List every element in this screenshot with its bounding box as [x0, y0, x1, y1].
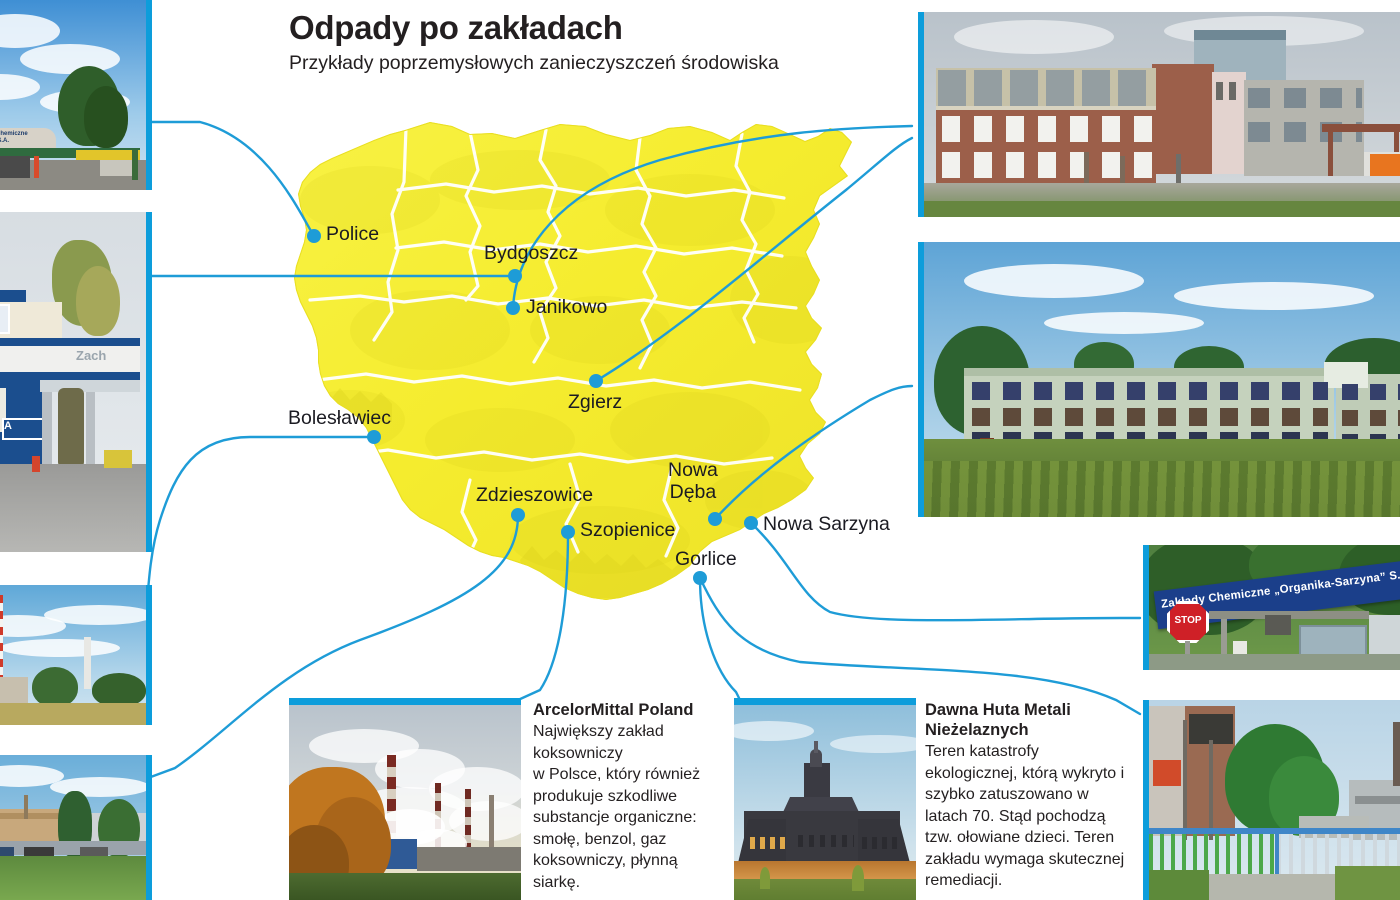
- city-label-bolesławiec: Bolesławiec: [288, 408, 391, 430]
- photo-sign-bydgoszcz: Zach: [76, 348, 106, 363]
- photo-bydgoszcz-building: Zach A: [0, 212, 152, 552]
- photo-police-plant: Zakłady Chemiczne „Police” S.A.: [0, 0, 152, 190]
- photo-gorlice-gate: [1143, 700, 1400, 900]
- photo-zdzieszowice-works: [0, 755, 152, 900]
- page-subtitle: Przykłady poprzemysłowych zanieczyszczeń…: [289, 51, 849, 77]
- city-label-bydgoszcz: Bydgoszcz: [484, 243, 578, 265]
- city-label-gorlice: Gorlice: [675, 549, 737, 571]
- title-block: Odpady po zakładach Przykłady poprzemysł…: [289, 10, 849, 77]
- infographic-root: PoliceBydgoszczJanikowoZgierzBolesławiec…: [0, 0, 1400, 900]
- page-title: Odpady po zakładach: [289, 10, 849, 47]
- photo-sign-police: Zakłady Chemiczne „Police” S.A.: [0, 131, 42, 145]
- city-label-zdzieszowice: Zdzieszowice: [476, 485, 593, 507]
- photo-huta-metali: [734, 698, 916, 900]
- caption-body: Największy zakład koksowniczy w Polsce, …: [533, 721, 729, 893]
- city-label-janikowo: Janikowo: [526, 297, 607, 319]
- photo-zgierz-longblock: [918, 242, 1400, 517]
- city-label-zgierz: Zgierz: [568, 392, 622, 414]
- photo-boleslawiec-stack: [0, 585, 152, 725]
- caption-body: Teren katastrofy ekologicznej, którą wyk…: [925, 741, 1130, 892]
- photo-janikowo-factory: [918, 12, 1400, 217]
- caption-arcelormittal: ArcelorMittal Poland Największy zakład k…: [533, 700, 729, 893]
- city-label-nowa-sarzyna: Nowa Sarzyna: [763, 514, 890, 536]
- city-label-police: Police: [326, 224, 379, 246]
- photo-nowa-sarzyna-sign: Zakłady Chemiczne „Organika-Sarzyna” S.A…: [1143, 545, 1400, 670]
- photo-arcelor-cokeplant: [289, 698, 521, 900]
- caption-title: ArcelorMittal Poland: [533, 700, 729, 720]
- city-label-szopienice: Szopienice: [580, 520, 675, 542]
- caption-huta-metali: Dawna Huta Metali Nieżelaznych Teren kat…: [925, 700, 1130, 892]
- caption-title: Dawna Huta Metali Nieżelaznych: [925, 700, 1130, 740]
- city-label-nowa-dęba: NowaDęba: [668, 460, 718, 504]
